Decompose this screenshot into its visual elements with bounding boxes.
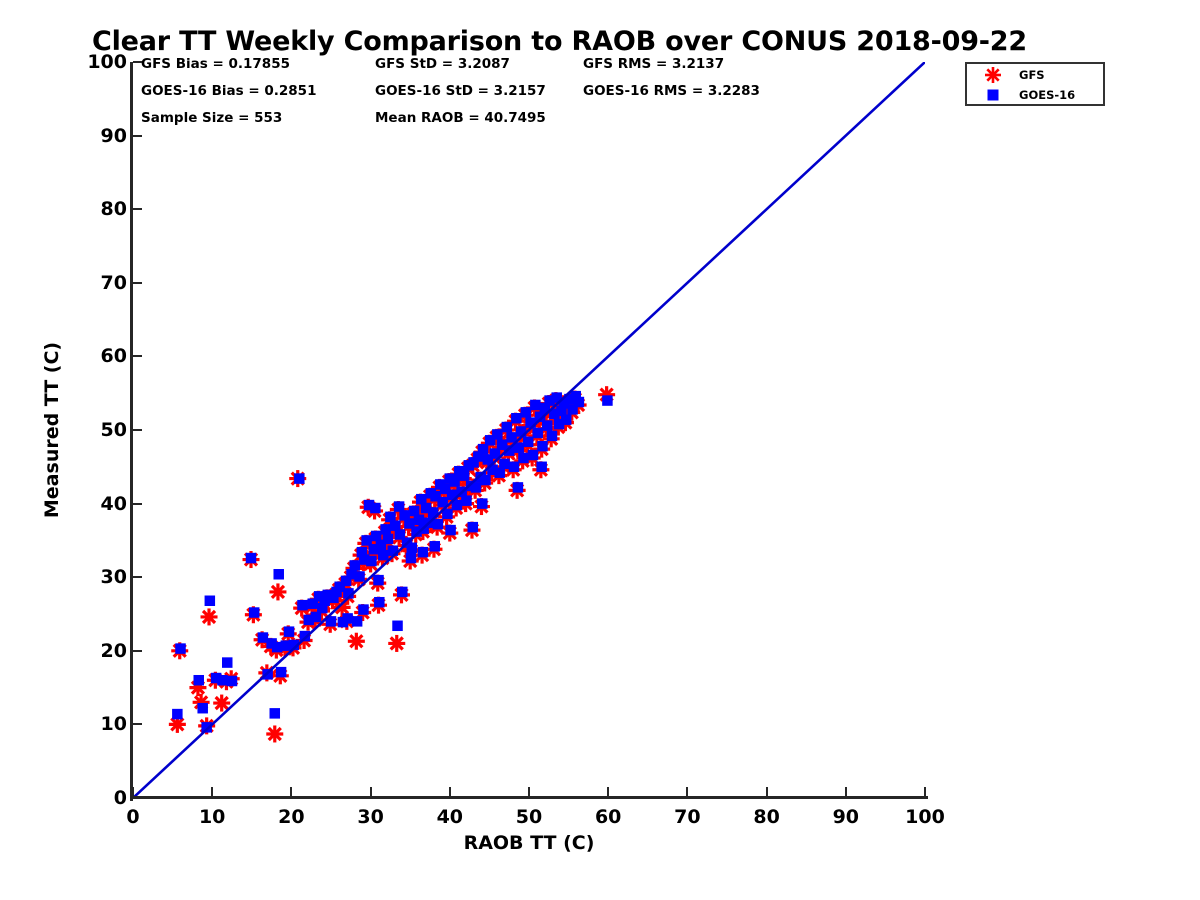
data-point [574,397,585,408]
data-point [354,571,365,582]
data-point [418,547,429,558]
x-axis-title: RAOB TT (C) [464,832,595,854]
y-tick-label: 80 [101,198,127,220]
data-point [461,495,472,506]
y-tick [133,208,142,210]
data-point [350,560,361,571]
data-point [269,583,286,600]
data-point [392,621,403,632]
legend-item-gfs[interactable]: GFS [967,65,1103,85]
y-tick [133,135,142,137]
data-point [537,441,548,452]
y-tick-label: 100 [87,51,127,73]
x-tick [686,787,688,796]
data-point [172,709,183,720]
data-point [397,587,408,598]
x-tick-label: 90 [833,806,859,828]
legend-label-gfs: GFS [1019,68,1045,82]
data-point [477,498,488,509]
y-tick [133,355,142,357]
y-tick [133,650,142,652]
x-tick-label: 60 [595,806,621,828]
data-point [492,429,503,440]
data-point [513,482,524,493]
x-tick [290,787,292,796]
y-axis-title: Measured TT (C) [41,342,63,518]
x-tick [924,787,926,796]
legend-item-goes16[interactable]: GOES-16 [967,85,1103,105]
data-point [528,450,539,461]
data-point [380,524,391,535]
asterisk-icon [967,65,1019,85]
x-tick-label: 40 [437,806,463,828]
y-tick-label: 30 [101,566,127,588]
data-point [352,616,363,627]
data-point [502,422,513,433]
data-point [445,525,456,536]
y-tick [133,429,142,431]
legend-label-goes16: GOES-16 [1019,88,1075,102]
data-point [366,556,377,567]
data-point [276,667,287,678]
y-tick-label: 60 [101,345,127,367]
data-point [406,553,417,564]
data-point [394,501,405,512]
data-point [249,607,260,618]
x-tick [528,787,530,796]
y-axis-line [130,62,133,801]
data-point [388,635,405,652]
data-point [430,541,441,552]
data-point [370,503,381,514]
data-point [222,657,233,668]
data-point [480,475,491,486]
chart-root: Clear TT Weekly Comparison to RAOB over … [0,0,1200,900]
data-point [468,522,479,533]
data-point [197,703,208,714]
data-point [246,553,257,564]
data-point [266,725,283,742]
data-point [532,428,543,439]
data-point [602,395,613,406]
x-tick-label: 30 [357,806,383,828]
data-point [201,608,218,625]
data-point [530,400,541,411]
page-title: Clear TT Weekly Comparison to RAOB over … [92,26,1027,57]
data-point [378,550,389,561]
y-tick [133,576,142,578]
x-tick [132,787,134,796]
data-point [273,569,284,580]
data-point [511,413,521,424]
y-tick-label: 70 [101,272,127,294]
x-tick [845,787,847,796]
data-point [523,437,534,448]
y-tick [133,797,142,799]
x-tick-label: 50 [516,806,542,828]
data-point [449,476,460,487]
data-point [284,626,295,637]
data-point [542,420,553,431]
y-tick [133,723,142,725]
plot-area [133,62,925,798]
y-tick [133,503,142,505]
data-point [383,534,394,545]
data-point [175,643,186,654]
y-tick-label: 20 [101,640,127,662]
x-tick [449,787,451,796]
square-icon [967,85,1019,105]
data-point [227,676,238,687]
data-point [459,470,470,481]
x-tick-label: 80 [753,806,779,828]
data-point [561,414,572,425]
data-point [348,633,365,650]
x-tick-label: 20 [278,806,304,828]
data-point [536,462,547,473]
x-tick [370,787,372,796]
data-point [373,575,384,586]
data-point [374,597,385,608]
x-tick-label: 10 [199,806,225,828]
x-tick [607,787,609,796]
y-tick-label: 0 [114,787,127,809]
x-tick [211,787,213,796]
legend: GFS GOES-16 [965,62,1105,106]
y-tick [133,61,142,63]
x-tick-label: 70 [674,806,700,828]
data-point [358,604,369,615]
y-tick-label: 10 [101,713,127,735]
data-point [217,675,228,686]
x-tick [766,787,768,796]
x-axis-line [130,796,928,799]
data-point [509,462,520,473]
data-point [270,708,281,719]
x-tick-label: 0 [126,806,139,828]
x-tick-label: 100 [905,806,945,828]
data-point [193,675,204,686]
y-tick-label: 90 [101,125,127,147]
data-point [297,600,308,611]
y-tick-label: 40 [101,493,127,515]
data-point [294,473,305,484]
data-point [342,613,353,624]
data-point [499,459,510,470]
data-point [547,431,558,442]
data-point [518,453,529,464]
y-tick-label: 50 [101,419,127,441]
data-point [521,407,532,418]
scatter-plot-svg [133,62,925,798]
one-to-one-reference-line [133,62,925,798]
y-tick [133,282,142,284]
data-point [433,519,444,530]
data-point [205,596,216,607]
